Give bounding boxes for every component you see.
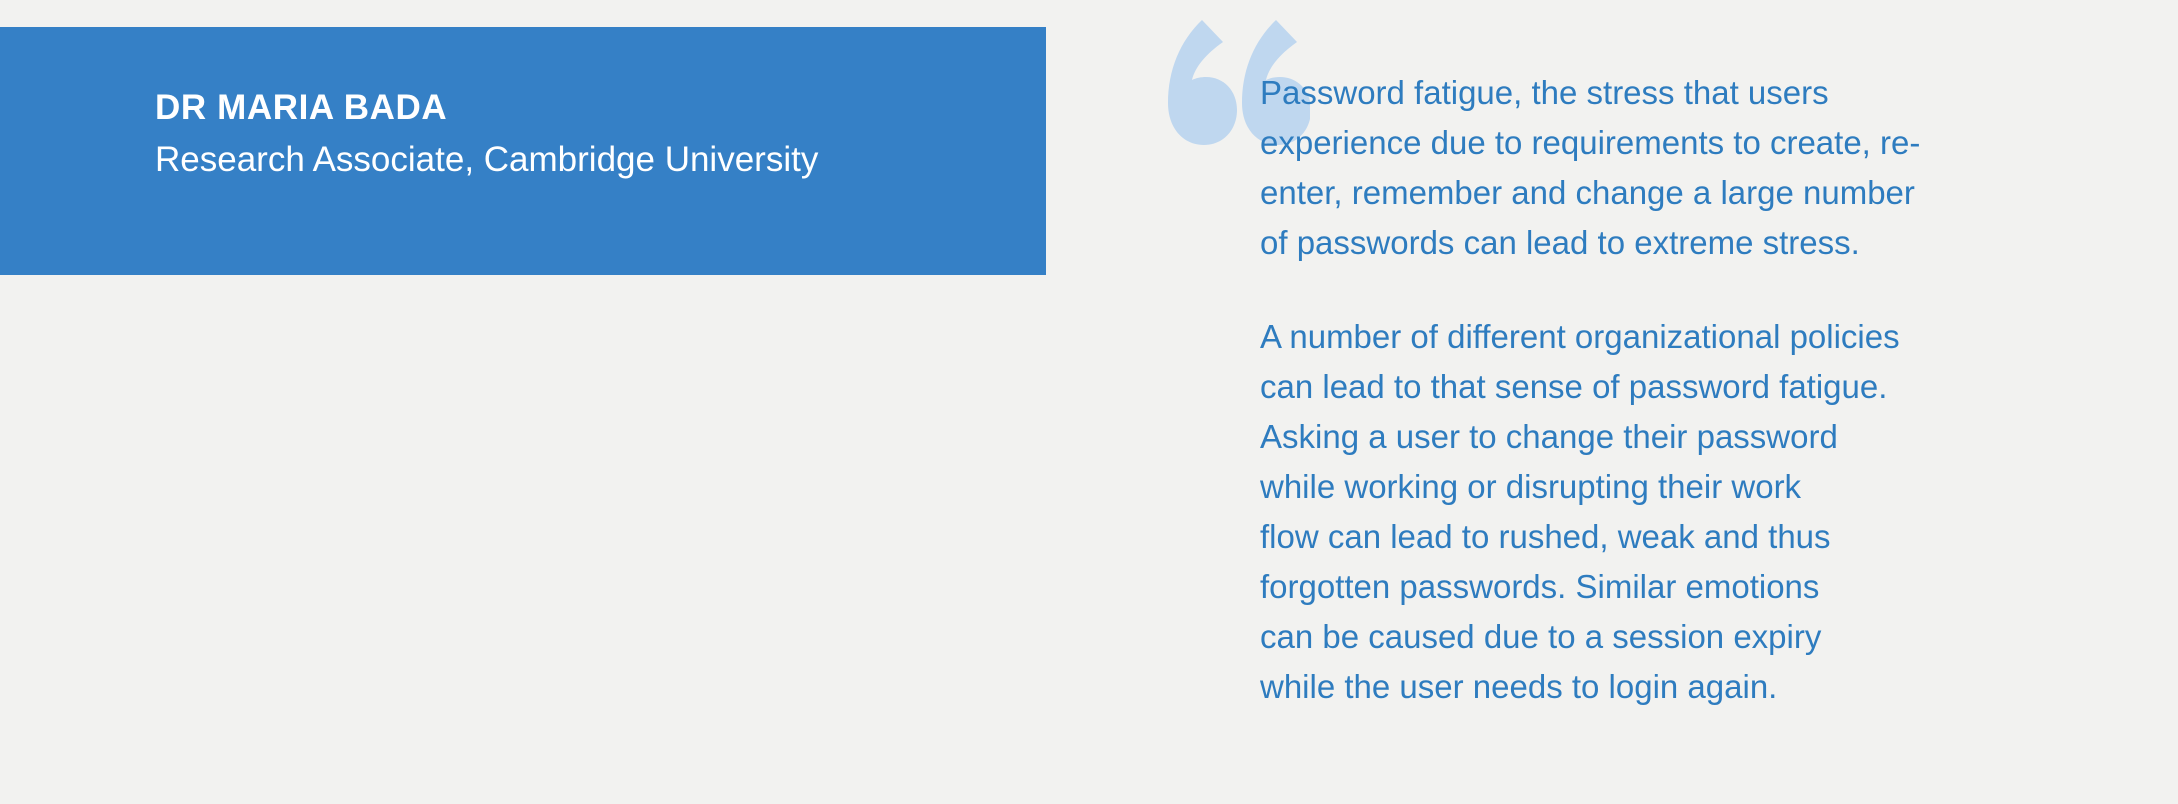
quote-line: can lead to that sense of password fatig…	[1260, 362, 2060, 412]
quote-line: enter, remember and change a large numbe…	[1260, 168, 2060, 218]
speaker-role: Research Associate, Cambridge University	[155, 140, 1006, 180]
quote-slide: DR MARIA BADA Research Associate, Cambri…	[0, 0, 2178, 804]
quote-block: Password fatigue, the stress that users …	[1140, 18, 2100, 712]
quote-text: Password fatigue, the stress that users …	[1260, 18, 2100, 712]
quote-paragraph-1: Password fatigue, the stress that users …	[1260, 68, 2060, 268]
quote-line: of passwords can lead to extreme stress.	[1260, 218, 2060, 268]
speaker-name: DR MARIA BADA	[155, 89, 1006, 128]
quote-line: experience due to requirements to create…	[1260, 118, 2060, 168]
quote-line: flow can lead to rushed, weak and thus	[1260, 512, 2060, 562]
quote-line: Asking a user to change their password	[1260, 412, 2060, 462]
quote-paragraph-2: A number of different organizational pol…	[1260, 312, 2060, 712]
speaker-panel-content: DR MARIA BADA Research Associate, Cambri…	[155, 89, 1006, 180]
quote-line: Password fatigue, the stress that users	[1260, 68, 2060, 118]
quote-line: while the user needs to login again.	[1260, 662, 2060, 712]
speaker-panel: DR MARIA BADA Research Associate, Cambri…	[0, 27, 1046, 275]
quote-line: A number of different organizational pol…	[1260, 312, 2060, 362]
quote-line: can be caused due to a session expiry	[1260, 612, 2060, 662]
quote-line: while working or disrupting their work	[1260, 462, 2060, 512]
quote-line: forgotten passwords. Similar emotions	[1260, 562, 2060, 612]
